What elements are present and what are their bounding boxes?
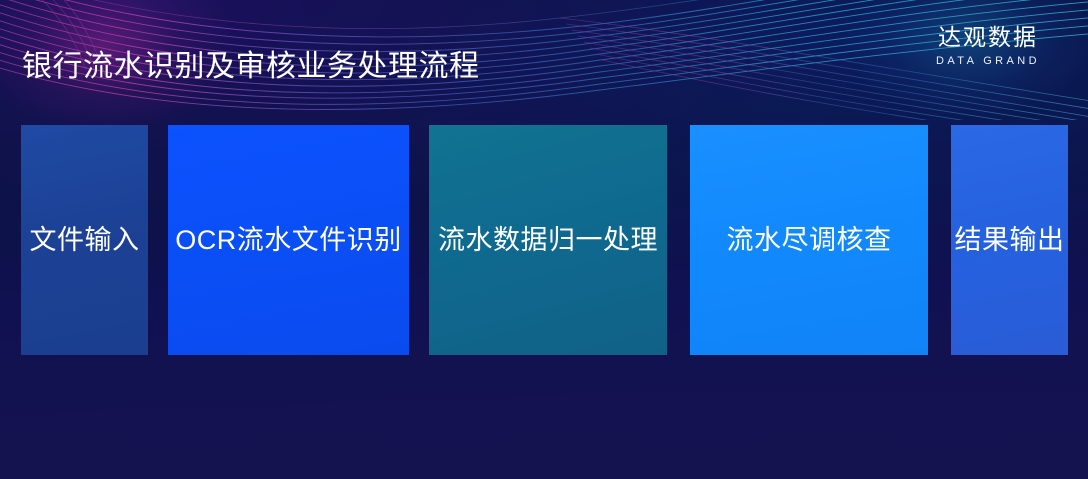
flow-step-label: OCR流水文件识别	[175, 223, 402, 257]
process-flow-diagram: 文件输入 OCR流水文件识别 流水数据归一处理 流水尽调核查 结果输出	[0, 0, 1088, 479]
flow-step-label: 文件输入	[30, 223, 140, 257]
flow-step-4[interactable]: 流水尽调核查	[690, 125, 928, 355]
slide-canvas: 银行流水识别及审核业务处理流程 达观数据 DATA GRAND 文件输入 OCR…	[0, 0, 1088, 479]
flow-step-2[interactable]: OCR流水文件识别	[168, 125, 409, 355]
flow-step-3[interactable]: 流水数据归一处理	[429, 125, 667, 355]
flow-step-label: 流水尽调核查	[727, 223, 892, 257]
flow-step-label: 流水数据归一处理	[438, 223, 658, 257]
flow-step-5[interactable]: 结果输出	[951, 125, 1068, 355]
flow-step-label: 结果输出	[955, 223, 1065, 257]
flow-step-1[interactable]: 文件输入	[21, 125, 148, 355]
